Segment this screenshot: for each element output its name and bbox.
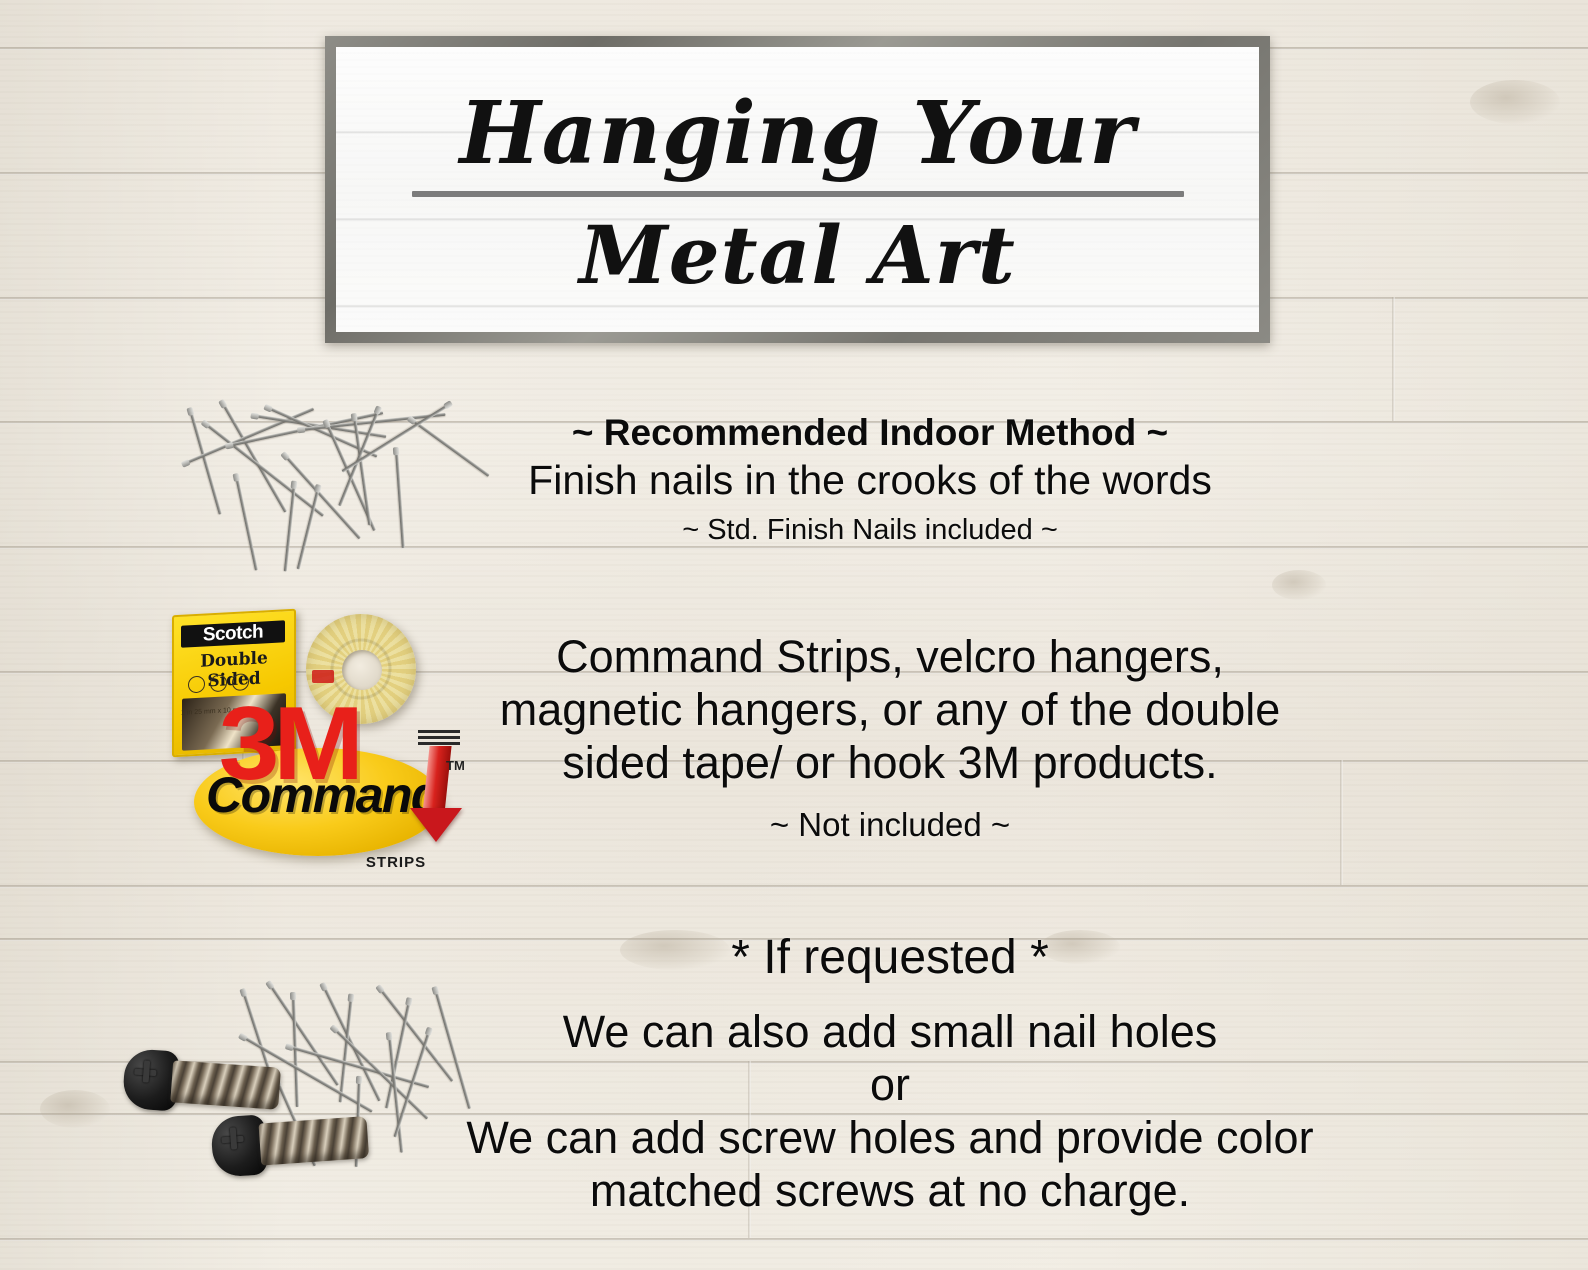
sign-title-line-1: Hanging Your	[459, 91, 1135, 177]
section3-body-line-4: matched screws at no charge.	[430, 1164, 1350, 1217]
section1-body: Finish nails in the crooks of the words	[440, 457, 1300, 505]
section-adhesive-options-text: Command Strips, velcro hangers, magnetic…	[450, 630, 1330, 845]
section2-note: ~ Not included ~	[450, 805, 1330, 845]
section2-body-line-1: Command Strips, velcro hangers,	[450, 630, 1330, 683]
sign-title-line-2: Metal Art	[579, 215, 1016, 295]
scotch-brand-label: Scotch	[181, 620, 285, 647]
section1-heading: ~ Recommended Indoor Method ~	[440, 412, 1300, 453]
wood-sign-frame: Hanging Your Metal Art	[325, 36, 1270, 343]
section3-body-line-3: We can add screw holes and provide color	[430, 1111, 1350, 1164]
section3-body-line-2: or	[430, 1058, 1350, 1111]
3m-command-strips-logo: Scotch Double Sided 1 in 25 mm x 10 m 3M…	[160, 608, 470, 873]
tape-roll-label	[312, 670, 334, 683]
sign-board: Hanging Your Metal Art	[336, 47, 1259, 332]
section-recommended-indoor-text: ~ Recommended Indoor Method ~ Finish nai…	[440, 412, 1300, 548]
tape-roll-core	[342, 650, 382, 690]
section2-body-line-3: sided tape/ or hook 3M products.	[450, 736, 1330, 789]
section-if-requested-text: * If requested * We can also add small n…	[430, 930, 1350, 1217]
section1-note: ~ Std. Finish Nails included ~	[440, 513, 1300, 548]
section3-heading: * If requested *	[430, 930, 1350, 987]
strips-label: STRIPS	[336, 854, 456, 871]
section2-body-line-2: magnetic hangers, or any of the double	[450, 683, 1330, 736]
finish-nails-pile-icon	[168, 392, 468, 562]
command-wordmark: Command	[206, 766, 436, 824]
sign-divider-rule	[412, 191, 1184, 197]
section3-body-line-1: We can also add small nail holes	[430, 1005, 1350, 1058]
